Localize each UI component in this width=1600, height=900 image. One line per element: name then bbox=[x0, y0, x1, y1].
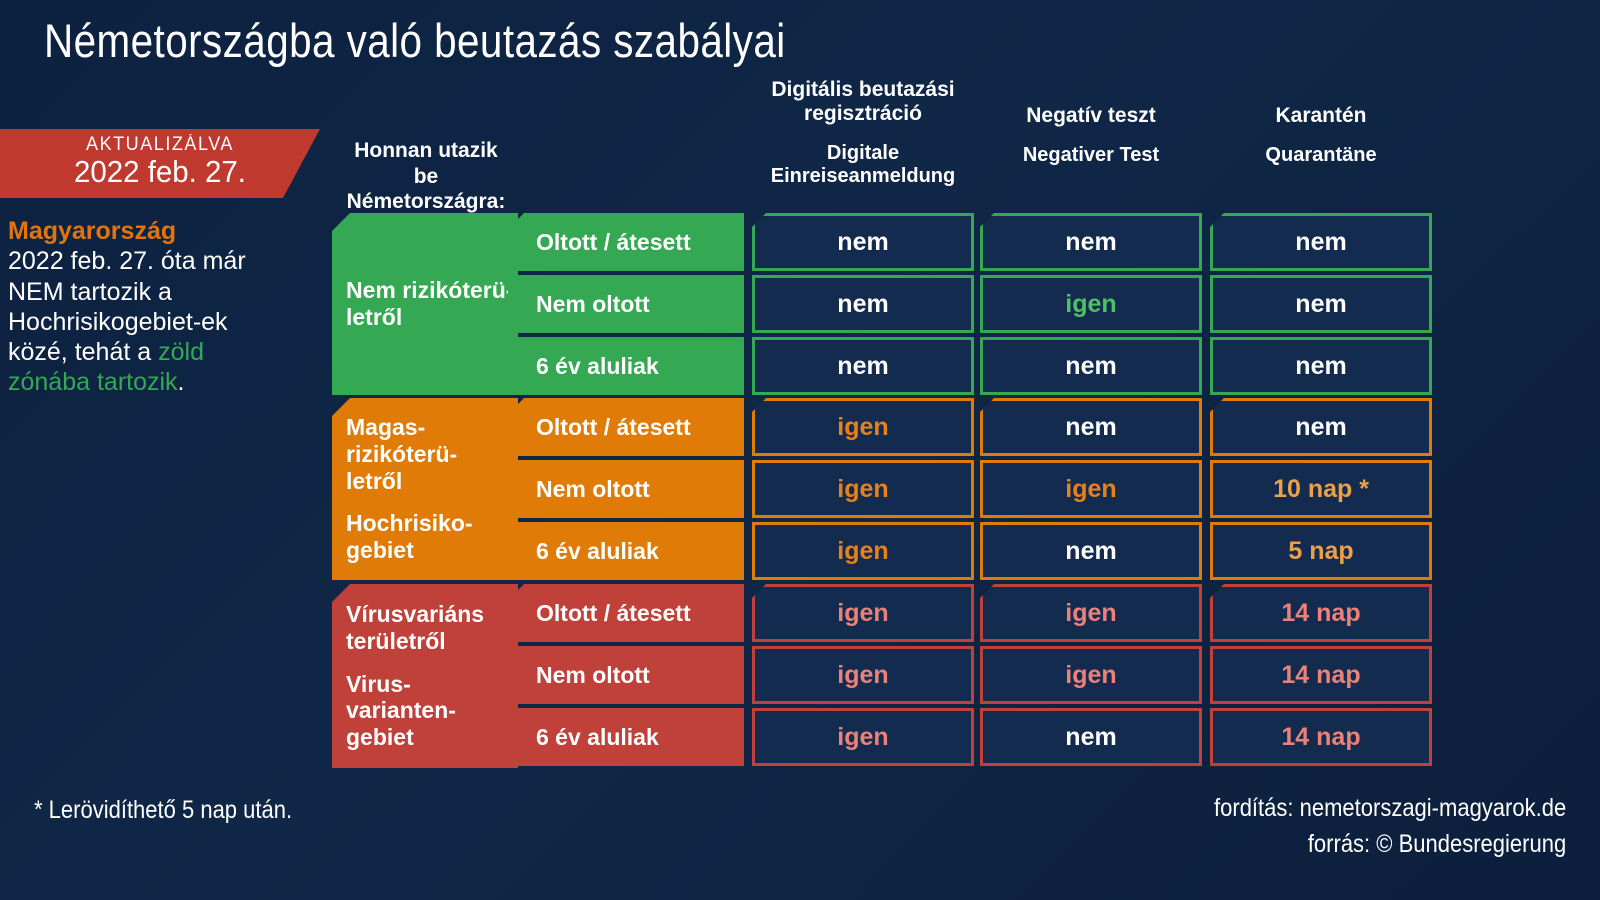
value-cell: nem bbox=[1210, 337, 1432, 395]
column-header-hu: Negatív teszt bbox=[980, 104, 1202, 128]
group-label-red: Vírusvariáns területrőlVirus- varianten-… bbox=[332, 584, 518, 768]
infographic-canvas: Németországba való beutazás szabályai AK… bbox=[0, 0, 1600, 900]
country-name: Magyarország bbox=[8, 216, 320, 246]
category-cell: Nem oltott bbox=[508, 460, 744, 518]
group-label-hu: Vírusvariáns területről bbox=[346, 601, 518, 654]
value-cell: 5 nap bbox=[1210, 522, 1432, 580]
value-cell: 14 nap bbox=[1210, 646, 1432, 704]
credit-translation: fordítás: nemetorszagi-magyarok.de bbox=[1214, 790, 1566, 826]
value-cell: nem bbox=[752, 275, 974, 333]
value-cell: igen bbox=[980, 460, 1202, 518]
value-cell: igen bbox=[752, 584, 974, 642]
category-cell: 6 év aluliak bbox=[508, 337, 744, 395]
group-label-de: Virus- varianten- gebiet bbox=[346, 671, 518, 751]
value-cell: nem bbox=[980, 708, 1202, 766]
column-header-de: Digitale Einreiseanmeldung bbox=[740, 142, 986, 188]
column-header-3: KaranténQuarantäne bbox=[1210, 104, 1432, 167]
category-cell: 6 év aluliak bbox=[508, 522, 744, 580]
update-banner: AKTUALIZÁLVA 2022 feb. 27. bbox=[0, 129, 320, 198]
value-cell: igen bbox=[980, 646, 1202, 704]
value-cell: nem bbox=[980, 398, 1202, 456]
update-banner-label: AKTUALIZÁLVA bbox=[8, 134, 312, 156]
value-cell: igen bbox=[752, 646, 974, 704]
row-group-header: Honnan utazik be Németországra: bbox=[338, 138, 514, 215]
column-header-hu: Digitális beutazási regisztráció bbox=[740, 78, 986, 126]
value-cell: igen bbox=[980, 584, 1202, 642]
value-cell: nem bbox=[1210, 398, 1432, 456]
category-cell: Oltott / átesett bbox=[508, 584, 744, 642]
update-banner-date: 2022 feb. 27. bbox=[8, 155, 312, 189]
value-cell: nem bbox=[980, 213, 1202, 271]
value-cell: igen bbox=[752, 522, 974, 580]
value-cell: 10 nap * bbox=[1210, 460, 1432, 518]
column-header-de: Negativer Test bbox=[980, 144, 1202, 167]
value-cell: igen bbox=[752, 398, 974, 456]
value-cell: igen bbox=[752, 708, 974, 766]
value-cell: 14 nap bbox=[1210, 584, 1432, 642]
group-label-hu: Magas- rizikóterü- letről bbox=[346, 414, 518, 494]
group-label-green: Nem rizikóterü- letről bbox=[332, 213, 518, 395]
credits: fordítás: nemetorszagi-magyarok.de forrá… bbox=[1166, 790, 1566, 863]
country-note-line1: 2022 feb. 27. óta már bbox=[8, 247, 246, 275]
value-cell: nem bbox=[752, 337, 974, 395]
row-group-header-line2: be bbox=[338, 164, 514, 190]
row-group-header-line3: Németországra: bbox=[338, 189, 514, 215]
country-note-line4: közé, tehát a bbox=[8, 338, 158, 366]
column-header-1: Digitális beutazási regisztrációDigitale… bbox=[740, 78, 986, 188]
category-cell: Oltott / átesett bbox=[508, 213, 744, 271]
column-header-2: Negatív tesztNegativer Test bbox=[980, 104, 1202, 167]
value-cell: 14 nap bbox=[1210, 708, 1432, 766]
category-cell: Oltott / átesett bbox=[508, 398, 744, 456]
column-header-hu: Karantén bbox=[1210, 104, 1432, 128]
value-cell: nem bbox=[1210, 275, 1432, 333]
country-note: Magyarország 2022 feb. 27. óta már NEM t… bbox=[8, 216, 320, 398]
value-cell: igen bbox=[980, 275, 1202, 333]
row-group-header-line1: Honnan utazik bbox=[338, 138, 514, 164]
group-label-de: Hochrisiko- gebiet bbox=[346, 510, 518, 563]
country-note-green-line: zónába tartozik bbox=[8, 368, 178, 396]
country-note-line2: NEM tartozik a bbox=[8, 278, 172, 306]
country-note-line3: Hochrisikogebiet-ek bbox=[8, 308, 228, 336]
page-title: Németországba való beutazás szabályai bbox=[44, 16, 786, 65]
value-cell: igen bbox=[752, 460, 974, 518]
group-label-orange: Magas- rizikóterü- letrőlHochrisiko- geb… bbox=[332, 398, 518, 580]
value-cell: nem bbox=[1210, 213, 1432, 271]
footnote: * Lerövidíthető 5 nap után. bbox=[34, 796, 292, 825]
country-note-period: . bbox=[178, 368, 185, 396]
country-note-green-word: zöld bbox=[158, 338, 204, 366]
credit-source: forrás: © Bundesregierung bbox=[1214, 826, 1566, 862]
category-cell: Nem oltott bbox=[508, 275, 744, 333]
group-label-hu: Nem rizikóterü- letről bbox=[346, 277, 518, 330]
column-header-de: Quarantäne bbox=[1210, 144, 1432, 167]
category-cell: 6 év aluliak bbox=[508, 708, 744, 766]
value-cell: nem bbox=[980, 337, 1202, 395]
value-cell: nem bbox=[752, 213, 974, 271]
category-cell: Nem oltott bbox=[508, 646, 744, 704]
value-cell: nem bbox=[980, 522, 1202, 580]
